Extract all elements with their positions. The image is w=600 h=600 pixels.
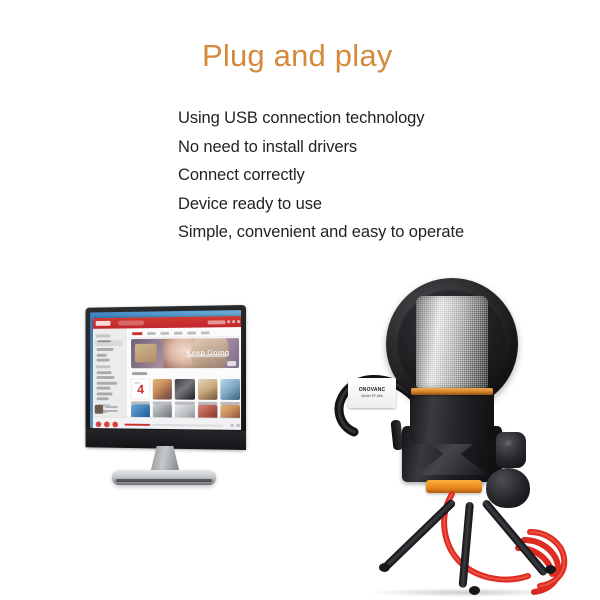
- model-name: Model SF-666: [361, 395, 382, 398]
- tab-recommend[interactable]: [132, 332, 142, 335]
- tab-item[interactable]: [147, 332, 156, 335]
- page-headline: Plug and play: [202, 38, 392, 74]
- volume-icon[interactable]: [230, 424, 234, 427]
- track-info: [105, 406, 118, 413]
- mount-tension-knob[interactable]: [496, 432, 526, 468]
- monitor-screen: Keep Going 4: [90, 310, 241, 430]
- accent-ring: [411, 388, 493, 395]
- feature-list: Using USB connection technology No need …: [178, 104, 508, 247]
- tab-item[interactable]: [201, 331, 210, 334]
- sidebar-item-discover[interactable]: [95, 340, 123, 346]
- brand-label: ONOVANC Model SF-666: [348, 378, 396, 408]
- microphone-body: [416, 296, 488, 424]
- album-art: [153, 379, 172, 400]
- product-marketing-image: Plug and play Using USB connection techn…: [0, 0, 600, 600]
- sidebar-group-header: [96, 365, 111, 368]
- list-item[interactable]: [131, 404, 150, 418]
- player-extra-controls[interactable]: [230, 424, 240, 427]
- sidebar-item[interactable]: [97, 392, 113, 395]
- product-shadow: [370, 588, 560, 597]
- sidebar-group-header: [96, 334, 111, 337]
- monitor-stand-base: [112, 470, 216, 485]
- coiled-cable: [408, 488, 588, 598]
- tab-item[interactable]: [187, 331, 196, 334]
- banner-subtitle: [187, 354, 226, 357]
- section-heading: [132, 372, 147, 375]
- user-account[interactable]: [208, 320, 226, 324]
- tripod-foot: [545, 565, 556, 574]
- feature-line: Connect correctly: [178, 161, 508, 190]
- list-item[interactable]: [175, 405, 194, 418]
- album-thumbnail: [95, 405, 103, 414]
- album-art: [198, 405, 218, 418]
- album-art: [175, 405, 194, 418]
- sidebar-item[interactable]: [97, 387, 111, 390]
- album-art: [175, 379, 194, 400]
- search-input[interactable]: [118, 320, 144, 325]
- monitor-bezel: Keep Going 4: [86, 305, 246, 450]
- app-logo-icon: [96, 321, 111, 326]
- list-item[interactable]: [198, 405, 218, 418]
- banner-badge: [227, 361, 236, 366]
- list-item[interactable]: [220, 405, 240, 418]
- sidebar-group: [93, 334, 126, 361]
- play-button[interactable]: [104, 421, 110, 427]
- album-art: [131, 404, 150, 418]
- feature-line: Simple, convenient and easy to operate: [178, 218, 508, 247]
- feature-line: Using USB connection technology: [178, 104, 508, 133]
- player-bar: [93, 417, 241, 430]
- tripod-foot: [379, 563, 390, 572]
- app-sidebar: [93, 328, 126, 416]
- sidebar-now-playing[interactable]: [95, 405, 118, 414]
- album-art: [153, 404, 172, 418]
- desktop-monitor: Keep Going 4: [78, 300, 248, 492]
- previous-button[interactable]: [96, 421, 102, 427]
- sidebar-item[interactable]: [97, 348, 114, 351]
- window-controls[interactable]: [227, 320, 240, 323]
- album-grid-row: [131, 404, 240, 418]
- progress-slider[interactable]: [125, 423, 224, 426]
- tab-item[interactable]: [174, 331, 183, 334]
- feature-line: Device ready to use: [178, 190, 508, 219]
- sidebar-group: [93, 365, 126, 400]
- album-art: 4: [131, 379, 150, 400]
- music-player-window: Keep Going 4: [93, 316, 241, 430]
- grille-shading: [416, 296, 488, 388]
- maximize-icon[interactable]: [232, 320, 235, 323]
- usb-condenser-microphone: ONOVANC Model SF-666: [330, 268, 590, 593]
- sidebar-item[interactable]: [97, 376, 115, 379]
- feature-line: No need to install drivers: [178, 133, 508, 162]
- album-art: [220, 405, 240, 418]
- album-art: [198, 379, 218, 400]
- sidebar-item[interactable]: [97, 397, 109, 400]
- list-item[interactable]: [153, 404, 172, 418]
- hero-banner[interactable]: Keep Going: [131, 338, 239, 368]
- close-icon[interactable]: [237, 320, 240, 323]
- minimize-icon[interactable]: [227, 320, 230, 323]
- rank-tag: [134, 381, 141, 383]
- content-tabs: [126, 327, 241, 338]
- microphone-lower-body: [410, 392, 494, 444]
- sidebar-item[interactable]: [97, 381, 117, 384]
- banner-side-art: [135, 344, 156, 362]
- featured-number: 4: [137, 383, 144, 396]
- brand-name: ONOVANC: [359, 388, 386, 393]
- playlist-icon[interactable]: [236, 424, 240, 427]
- album-art: [220, 379, 240, 400]
- sidebar-item[interactable]: [97, 359, 110, 362]
- tab-item[interactable]: [160, 331, 169, 334]
- next-button[interactable]: [112, 421, 118, 427]
- sidebar-item[interactable]: [97, 353, 107, 356]
- app-content: Keep Going 4: [126, 327, 241, 418]
- sidebar-item[interactable]: [97, 371, 112, 374]
